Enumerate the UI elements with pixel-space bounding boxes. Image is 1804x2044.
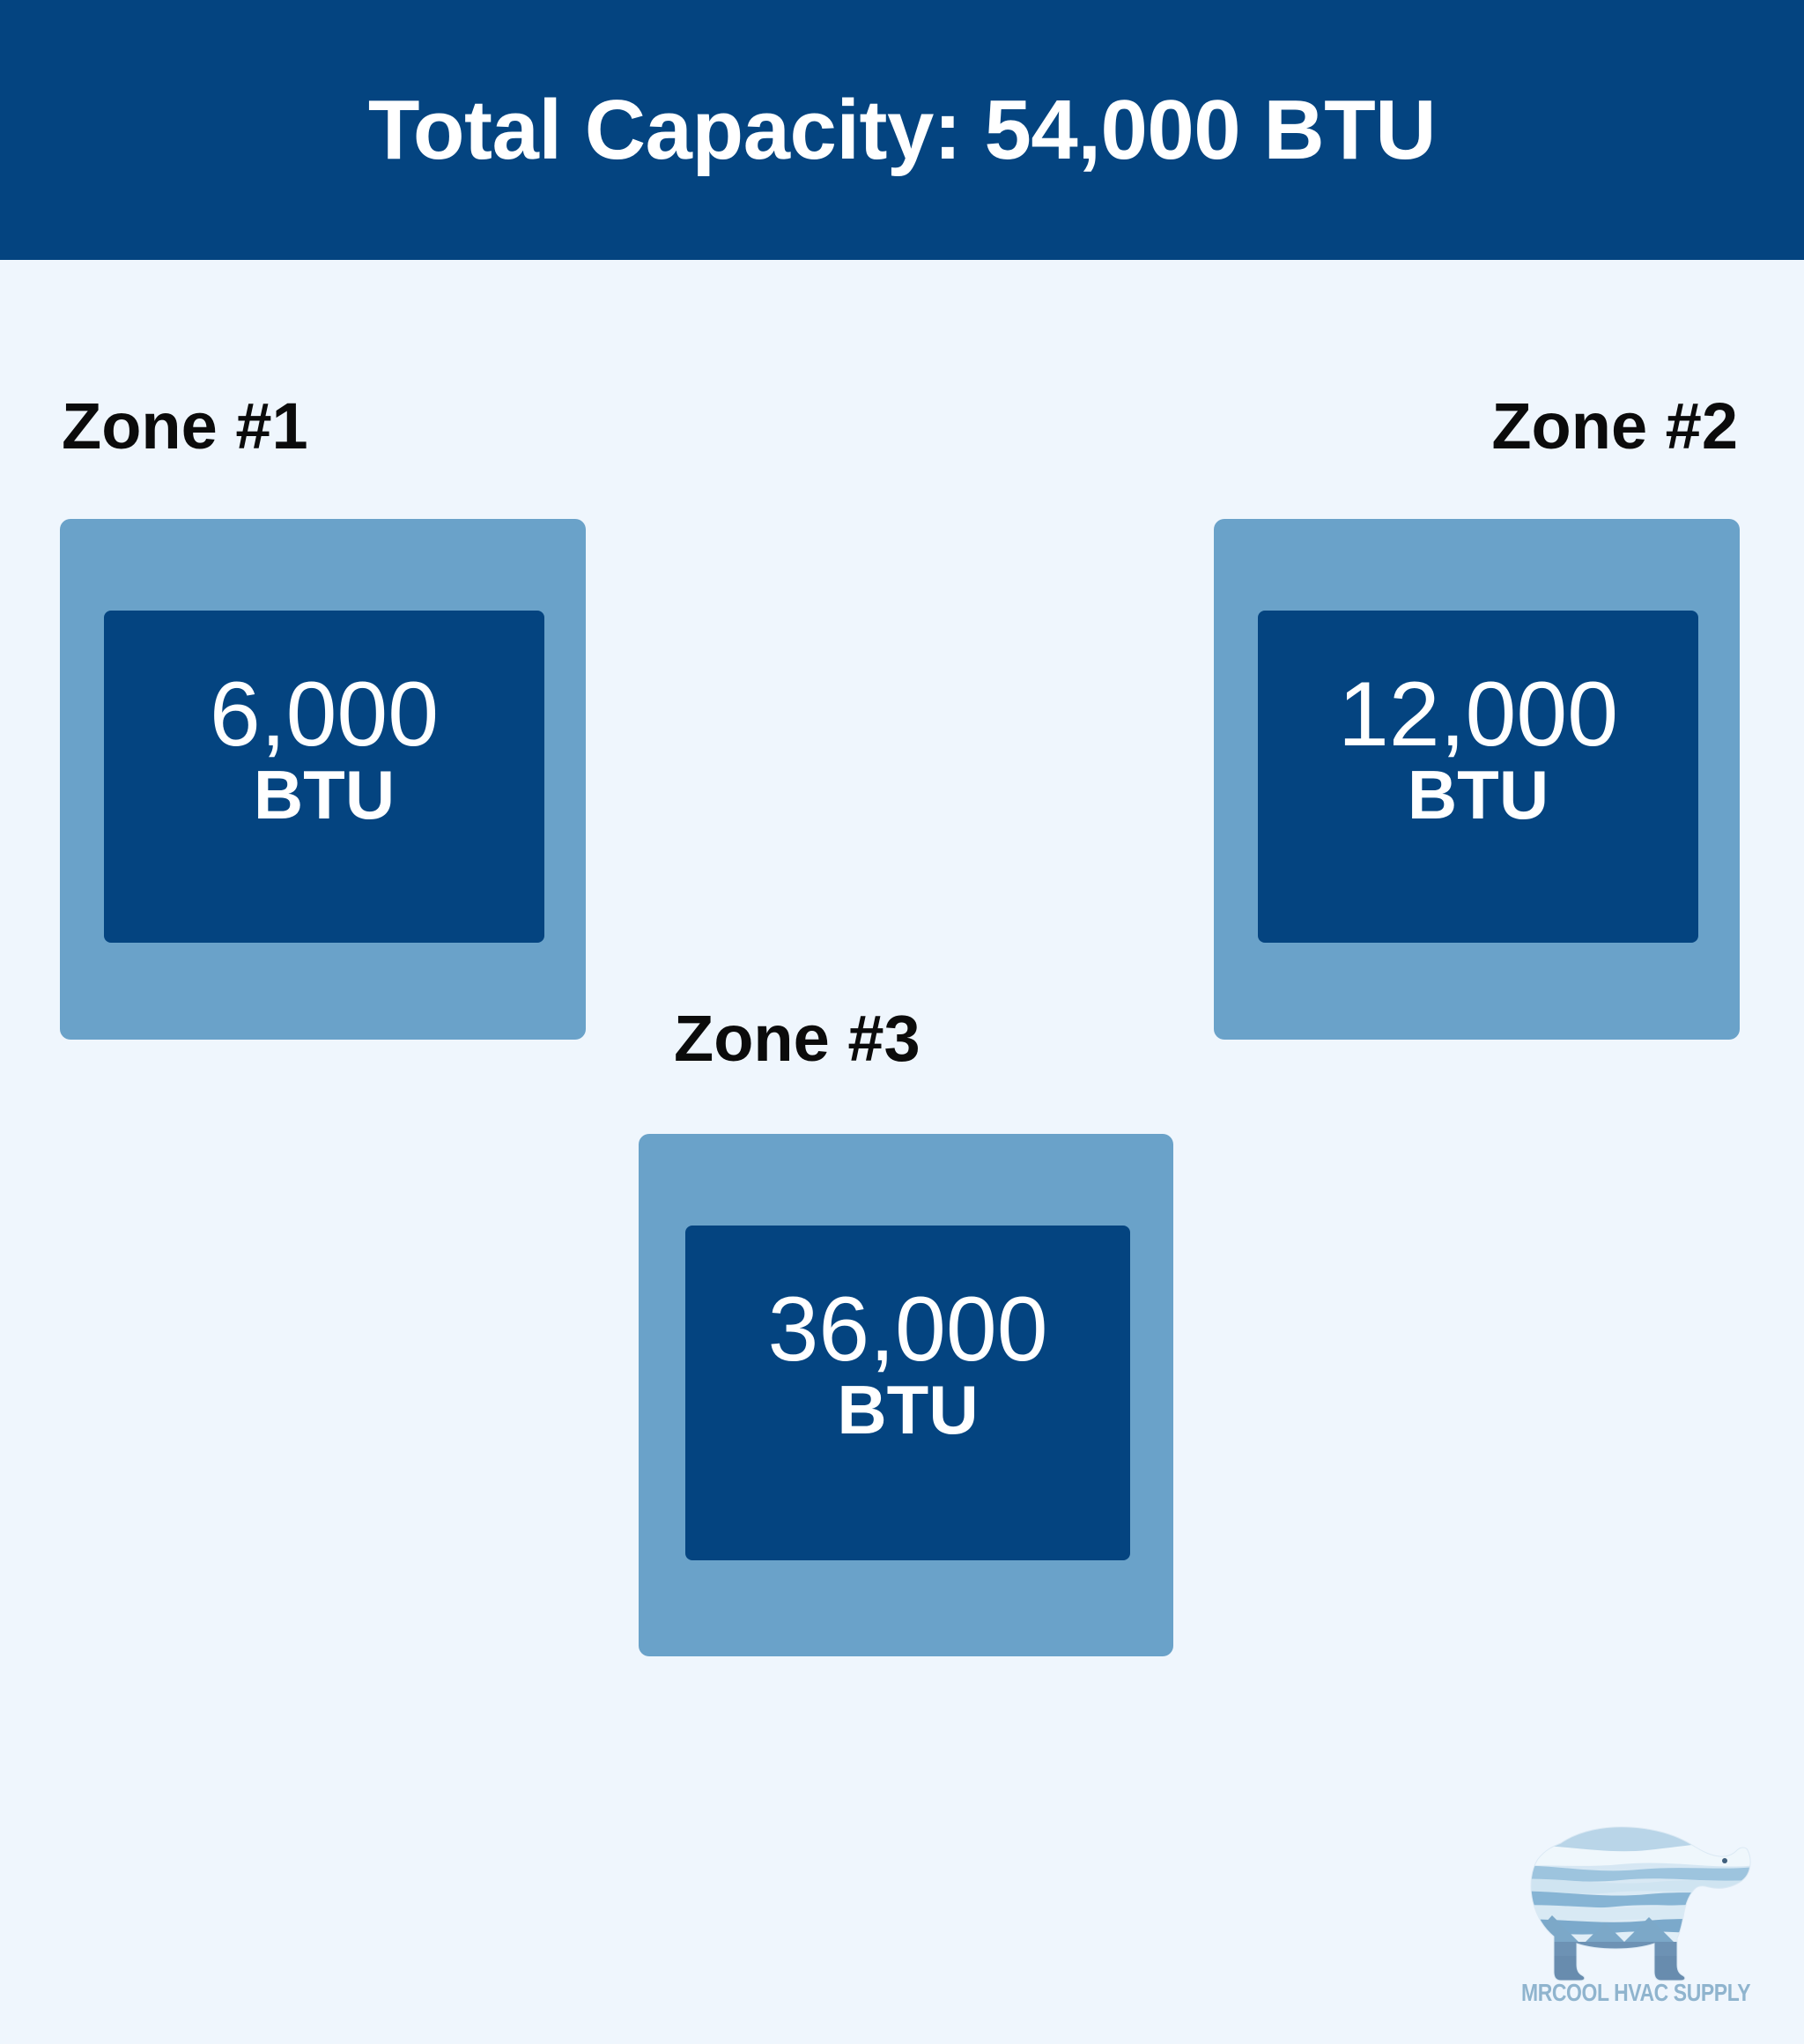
zone-3-value: 36,000: [767, 1284, 1047, 1375]
zone-3-unit: BTU: [837, 1375, 978, 1444]
bear-eye-icon: [1722, 1858, 1727, 1863]
polar-bear-icon: [1497, 1824, 1762, 1991]
page-title: Total Capacity: 54,000 BTU: [368, 88, 1436, 173]
brand-logo: MRCOOL HVAC SUPPLY: [1497, 1824, 1762, 2044]
zone-2-unit: BTU: [1408, 760, 1549, 829]
zone-3-capacity-tile: 36,000 BTU: [685, 1226, 1130, 1560]
zone-2-label: Zone #2: [1491, 394, 1738, 459]
zone-card-1[interactable]: Zone #1 6,000 BTU: [60, 519, 586, 1040]
zone-1-unit: BTU: [254, 760, 395, 829]
zone-card-2[interactable]: Zone #2 12,000 BTU: [1214, 519, 1740, 1040]
zone-1-label: Zone #1: [62, 394, 308, 459]
logo-wordmark: MRCOOL HVAC SUPPLY: [1521, 1981, 1738, 2005]
zone-2-outer-frame: 12,000 BTU: [1214, 519, 1740, 1040]
header-band: Total Capacity: 54,000 BTU: [0, 0, 1804, 260]
zone-3-label: Zone #3: [674, 1006, 920, 1071]
bear-landscape-fill: [1497, 1824, 1762, 1991]
zone-3-outer-frame: 36,000 BTU: [639, 1134, 1173, 1656]
zone-1-outer-frame: 6,000 BTU: [60, 519, 586, 1040]
zone-2-value: 12,000: [1338, 669, 1618, 760]
zone-diagram-canvas: Zone #1 6,000 BTU Zone #2 12,000 BTU Zon…: [0, 260, 1804, 1804]
zone-card-3[interactable]: Zone #3 36,000 BTU: [639, 1134, 1173, 1656]
zone-2-capacity-tile: 12,000 BTU: [1258, 611, 1698, 943]
zone-1-capacity-tile: 6,000 BTU: [104, 611, 544, 943]
zone-1-value: 6,000: [210, 669, 439, 760]
